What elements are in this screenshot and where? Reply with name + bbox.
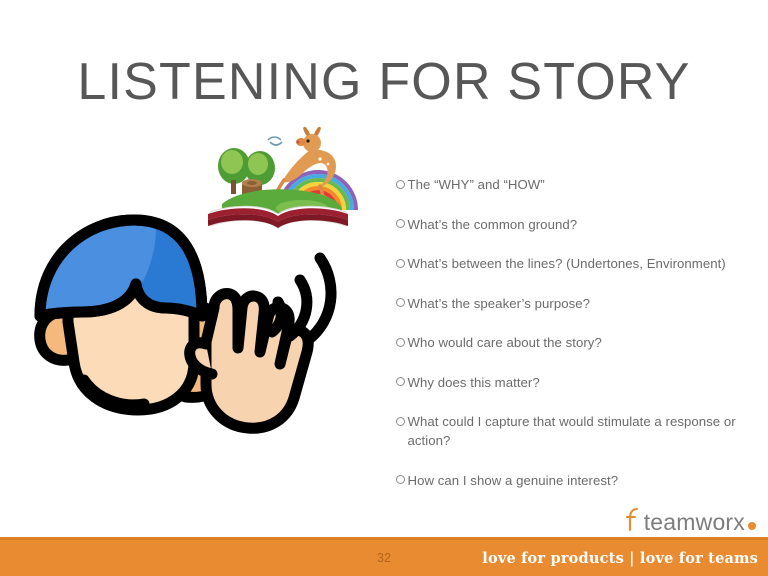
sound-wave-medium	[290, 280, 307, 336]
bird-shape	[268, 137, 282, 145]
list-item: What could I capture that would stimulat…	[396, 412, 744, 450]
hollow-circle-icon	[396, 417, 405, 426]
hollow-circle-icon	[396, 377, 405, 386]
ear-listening-svg	[26, 212, 346, 482]
list-item-label: What could I capture that would stimulat…	[408, 412, 745, 450]
list-item: What’s between the lines? (Undertones, E…	[396, 254, 744, 273]
footer-bar: 32 love for products | love for teams	[0, 537, 768, 576]
sound-waves	[272, 258, 331, 340]
list-item-label: What’s the common ground?	[408, 215, 745, 234]
list-item: How can I show a genuine interest?	[396, 471, 744, 490]
list-item-label: What’s the speaker’s purpose?	[408, 294, 745, 313]
list-item-label: The “WHY” and “HOW”	[408, 175, 745, 194]
presentation-slide: LISTENING FOR STORY	[0, 0, 768, 576]
hand-shape	[206, 294, 308, 429]
list-item-label: How can I show a genuine interest?	[408, 471, 745, 490]
list-item: The “WHY” and “HOW”	[396, 175, 744, 194]
thumb-shape	[190, 343, 212, 374]
list-item-label: Why does this matter?	[408, 373, 745, 392]
hollow-circle-icon	[396, 219, 405, 228]
storybook-icon	[198, 126, 358, 241]
teamworx-logo: teamworx	[626, 508, 756, 536]
teamworx-hook-svg	[626, 506, 642, 534]
teamworx-dot-icon	[748, 522, 756, 530]
hollow-circle-icon	[396, 259, 405, 268]
list-item-label: What’s between the lines? (Undertones, E…	[408, 254, 745, 273]
storybook-svg	[198, 126, 358, 236]
hollow-circle-icon	[396, 338, 405, 347]
list-item: Who would care about the story?	[396, 333, 744, 352]
hollow-circle-icon	[396, 180, 405, 189]
footer-tagline: love for products | love for teams	[482, 540, 758, 576]
teamworx-hook-icon	[626, 506, 642, 539]
ear-listening-icon	[26, 212, 346, 487]
list-item: Why does this matter?	[396, 373, 744, 392]
list-item-label: Who would care about the story?	[408, 333, 745, 352]
hollow-circle-icon	[396, 475, 405, 484]
bullet-list: The “WHY” and “HOW” What’s the common gr…	[396, 175, 744, 510]
list-item: What’s the common ground?	[396, 215, 744, 234]
hollow-circle-icon	[396, 298, 405, 307]
teamworx-logo-text: teamworx	[644, 511, 745, 534]
list-item: What’s the speaker’s purpose?	[396, 294, 744, 313]
page-title: LISTENING FOR STORY	[0, 52, 768, 112]
